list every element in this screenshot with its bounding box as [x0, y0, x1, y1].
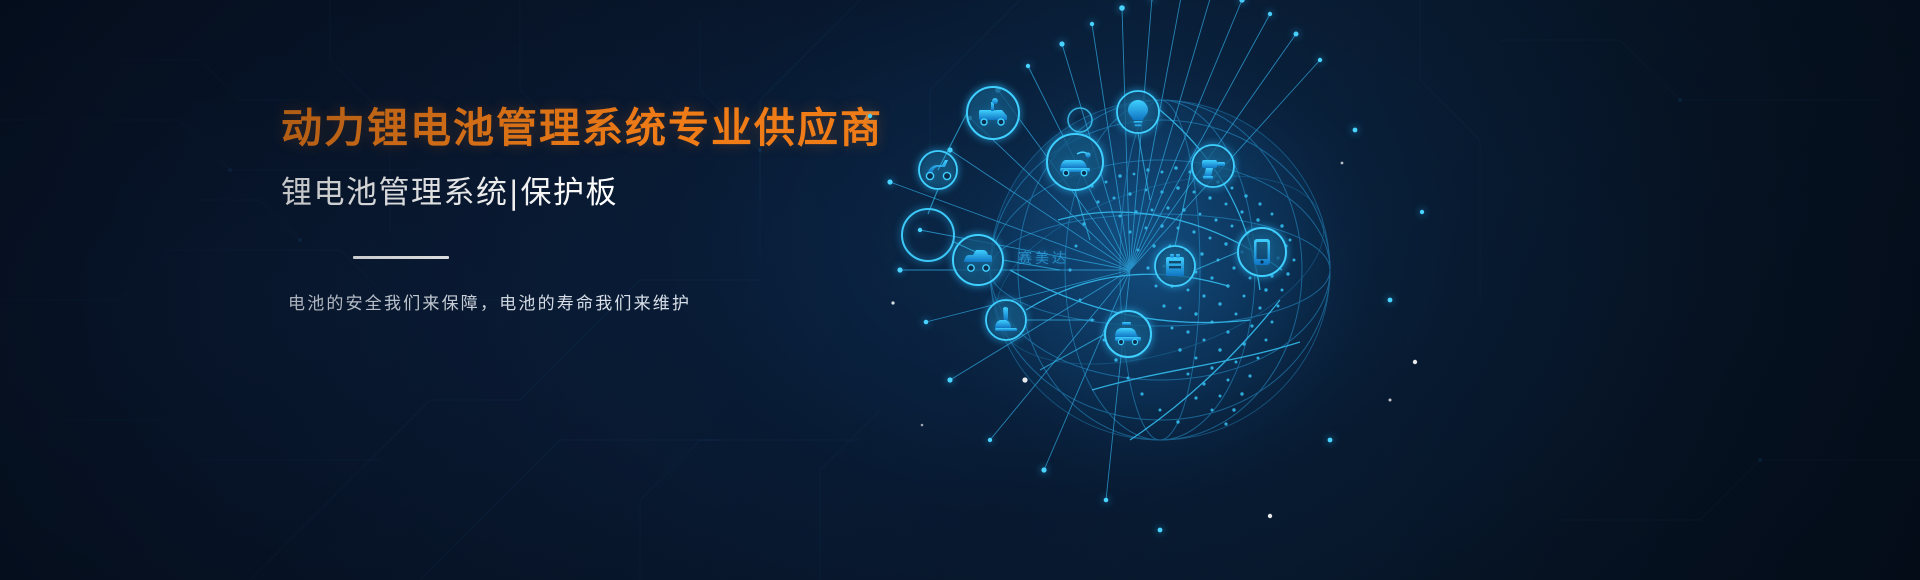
banner-tagline: 电池的安全我们来保障，电池的寿命我们来维护: [288, 289, 921, 314]
banner-headline: 动力锂电池管理系统专业供应商: [281, 104, 921, 153]
sparkle-layer: [830, 0, 1470, 580]
network-globe-illustration: [830, 0, 1470, 580]
banner-subheadline: 锂电池管理系统|保护板: [281, 175, 921, 212]
hero-banner: 动力锂电池管理系统专业供应商 锂电池管理系统|保护板 电池的安全我们来保障，电池…: [0, 0, 1920, 580]
brandmark-text: 赛美达: [1018, 248, 1069, 268]
banner-copy: 动力锂电池管理系统专业供应商 锂电池管理系统|保护板 电池的安全我们来保障，电池…: [281, 104, 921, 314]
divider-rule: [353, 256, 449, 259]
